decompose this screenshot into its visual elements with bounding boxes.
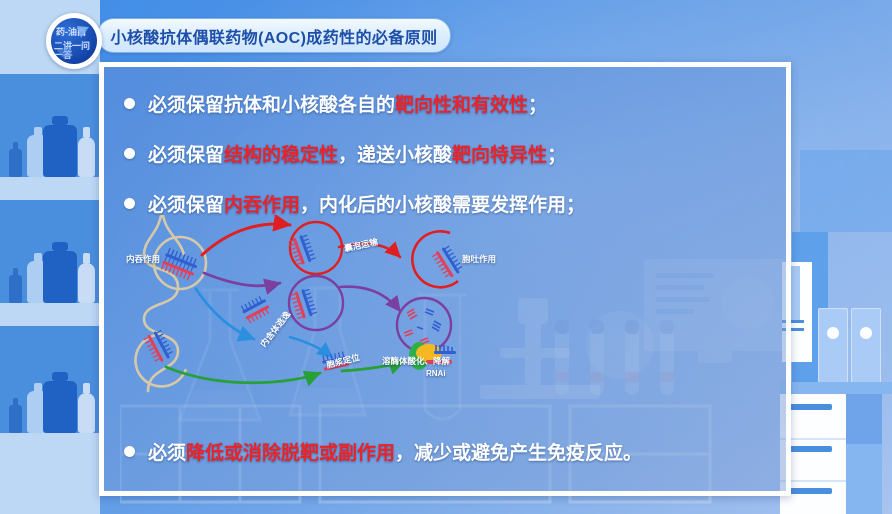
- bullet-3-text: 必须保留内吞作用，内化后的小核酸需要发挥作用；: [148, 190, 585, 217]
- bullet-marker-icon: [124, 148, 135, 159]
- bullet-1: 必须保留抗体和小核酸各自的靶向性和有效性；: [124, 90, 547, 117]
- slide-title-pill: 小核酸抗体偶联药物(AOC)成药性的必备原则: [97, 18, 451, 53]
- bullet-1-text: 必须保留抗体和小核酸各自的靶向性和有效性；: [148, 90, 547, 117]
- bullet-4: 必须降低或消除脱靶或副作用，减少或避免产生免疫反应。: [124, 438, 642, 465]
- content-panel: 内吞作用 囊泡运输 胞吐作用 内含体逃逸 胞浆定位 溶酶体酸化、降解 RNAi …: [99, 62, 791, 496]
- sirna-duplex-membrane: [160, 247, 200, 281]
- page-title: 小核酸抗体偶联药物(AOC)成药性的必备原则: [110, 24, 437, 48]
- bullet-marker-icon: [124, 446, 135, 457]
- label-lysosome-degradation: 溶酶体酸化、降解: [382, 355, 450, 367]
- endocytosis-trafficking-diagram: 内吞作用 囊泡运输 胞吐作用 内含体逃逸 胞浆定位 溶酶体酸化、降解 RNAi: [104, 215, 786, 395]
- bullet-marker-icon: [124, 198, 135, 209]
- left-shelf-column: [0, 0, 100, 514]
- shelf-unit-1: [0, 74, 100, 186]
- label-endocytosis: 内吞作用: [126, 253, 160, 265]
- logo-disc: 药-油西 二讲一问一答: [51, 18, 97, 64]
- binder-2: [851, 308, 881, 392]
- bullet-4-text: 必须降低或消除脱靶或副作用，减少或避免产生免疫反应。: [148, 438, 642, 465]
- slide-canvas: 小核酸抗体偶联药物(AOC)成药性的必备原则 药-油西 二讲一问一答: [0, 0, 892, 514]
- shelf-unit-3: [0, 326, 100, 442]
- bullet-2-text: 必须保留结构的稳定性，递送小核酸靶向特异性；: [148, 140, 566, 167]
- label-rnai: RNAi: [426, 369, 446, 378]
- binder-1: [818, 308, 848, 392]
- circular-brand-logo: 药-油西 二讲一问一答: [46, 13, 102, 69]
- bullet-marker-icon: [124, 98, 135, 109]
- bullet-3: 必须保留内吞作用，内化后的小核酸需要发挥作用；: [124, 190, 585, 217]
- bullet-2: 必须保留结构的稳定性，递送小核酸靶向特异性；: [124, 140, 566, 167]
- shelf-unit-2: [0, 200, 100, 312]
- label-exocytosis: 胞吐作用: [462, 253, 496, 265]
